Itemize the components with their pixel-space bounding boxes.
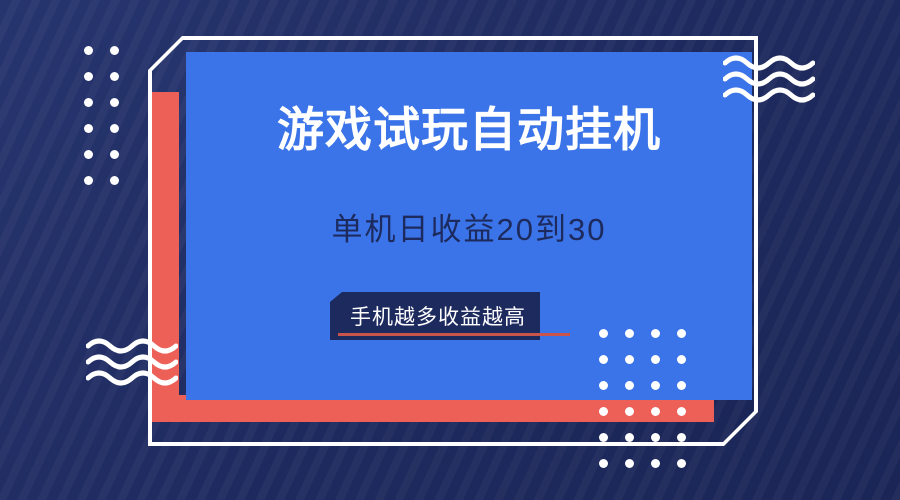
decorative-dot bbox=[84, 98, 93, 107]
decorative-dot bbox=[110, 176, 119, 185]
promo-poster: 游戏试玩自动挂机 单机日收益20到30 手机越多收益越高 bbox=[0, 0, 900, 500]
decorative-dot bbox=[625, 329, 634, 338]
decorative-dot bbox=[651, 329, 660, 338]
decorative-dot bbox=[599, 459, 608, 468]
decorative-dot bbox=[599, 381, 608, 390]
decorative-dot bbox=[599, 433, 608, 442]
decorative-dot bbox=[84, 124, 93, 133]
decorative-dot bbox=[599, 407, 608, 416]
decorative-dot bbox=[110, 124, 119, 133]
decorative-dot bbox=[599, 355, 608, 364]
decorative-dot bbox=[677, 381, 686, 390]
poster-subtitle: 单机日收益20到30 bbox=[186, 213, 752, 247]
decorative-dot bbox=[625, 355, 634, 364]
decorative-dot bbox=[677, 459, 686, 468]
decorative-dot bbox=[110, 46, 119, 55]
decorative-dot bbox=[625, 433, 634, 442]
decorative-dot bbox=[84, 150, 93, 159]
decorative-dot bbox=[599, 329, 608, 338]
decorative-dot bbox=[651, 433, 660, 442]
decorative-dot bbox=[84, 176, 93, 185]
decorative-dot bbox=[84, 46, 93, 55]
decorative-dot bbox=[651, 381, 660, 390]
tagline-underline bbox=[338, 333, 570, 336]
decorative-dot bbox=[651, 355, 660, 364]
poster-title: 游戏试玩自动挂机 bbox=[186, 104, 752, 156]
decorative-dot bbox=[677, 355, 686, 364]
decorative-dot bbox=[625, 407, 634, 416]
decorative-dot bbox=[110, 98, 119, 107]
decorative-dot bbox=[625, 459, 634, 468]
wave-icon-top-right bbox=[723, 55, 815, 103]
decorative-dot bbox=[651, 407, 660, 416]
dot-grid-left bbox=[84, 46, 119, 185]
poster-tagline-container: 手机越多收益越高 bbox=[330, 292, 540, 334]
decorative-dot bbox=[651, 459, 660, 468]
decorative-dot bbox=[84, 72, 93, 81]
decorative-dot bbox=[110, 150, 119, 159]
decorative-dot bbox=[625, 381, 634, 390]
decorative-dot bbox=[677, 329, 686, 338]
wave-icon-bottom-left bbox=[86, 338, 178, 386]
decorative-dot bbox=[110, 72, 119, 81]
decorative-dot bbox=[677, 433, 686, 442]
decorative-dot bbox=[677, 407, 686, 416]
dot-grid-right bbox=[599, 329, 686, 468]
